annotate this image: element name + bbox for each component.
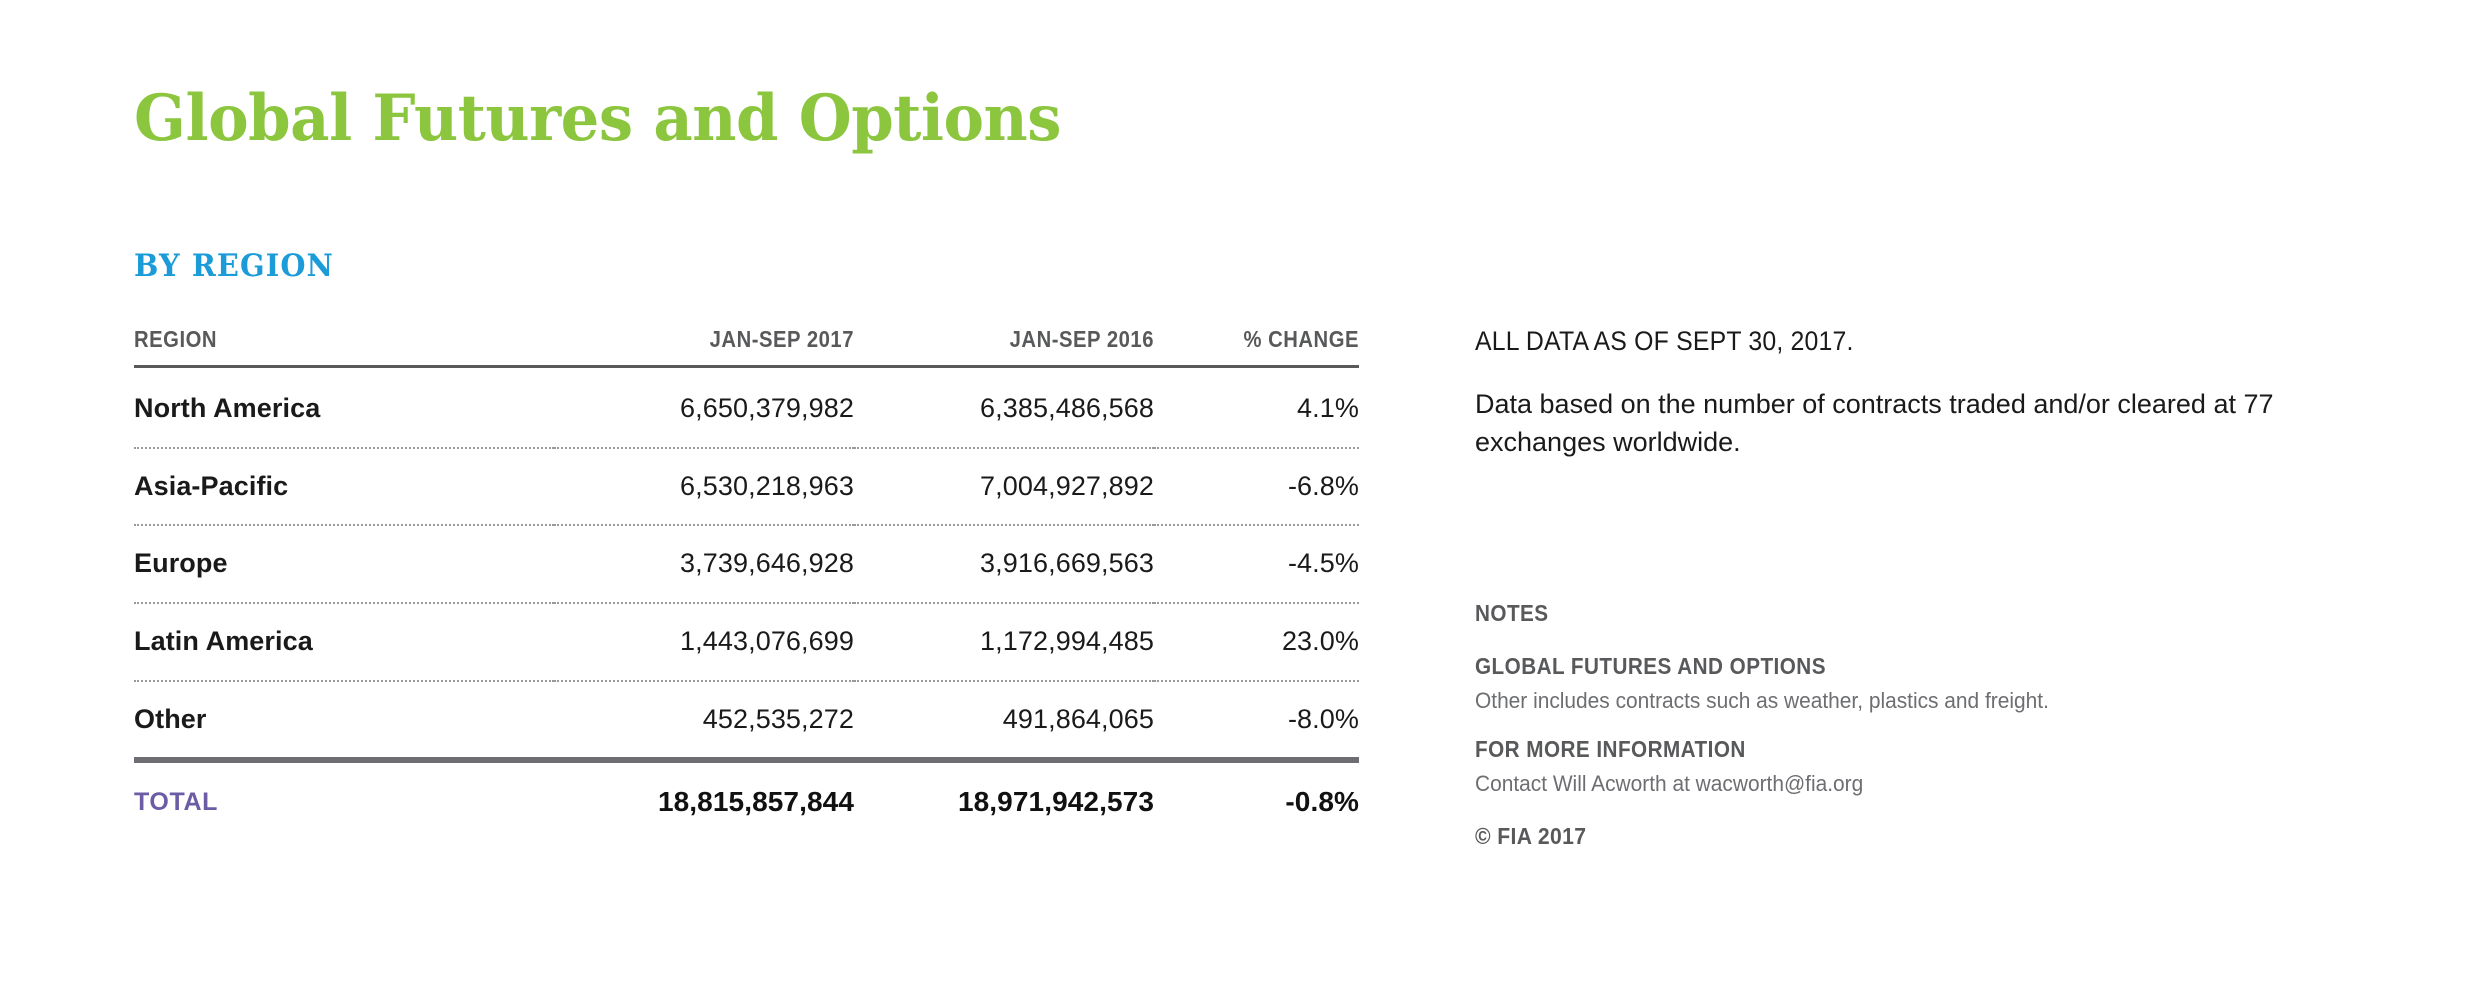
data-as-of-label: ALL DATA AS OF SEPT 30, 2017. (1475, 326, 2239, 357)
region-table: REGION JAN-SEP 2017 JAN-SEP 2016 % CHANG… (134, 326, 1359, 826)
cell-pct-change: -4.5% (1154, 525, 1359, 603)
column-header-2016: JAN-SEP 2016 (890, 326, 1154, 367)
report-page: Global Futures and Options BY REGION REG… (0, 0, 2475, 981)
column-header-2017: JAN-SEP 2017 (590, 326, 854, 367)
cell-2017: 6,650,379,982 (554, 367, 854, 448)
table-body: North America 6,650,379,982 6,385,486,56… (134, 367, 1359, 827)
note-body-global-futures-and-options: Other includes contracts such as weather… (1475, 688, 2264, 714)
cell-region: Europe (134, 525, 554, 603)
copyright-notice: © FIA 2017 (1475, 823, 2239, 850)
data-description: Data based on the number of contracts tr… (1475, 385, 2285, 462)
cell-2016: 6,385,486,568 (854, 367, 1154, 448)
cell-pct-change: -8.0% (1154, 681, 1359, 761)
page-title: Global Futures and Options (134, 85, 1061, 152)
table-row: Asia-Pacific 6,530,218,963 7,004,927,892… (134, 448, 1359, 526)
notes-heading: NOTES (1475, 600, 2222, 627)
section-subtitle: BY REGION (134, 248, 334, 284)
cell-2016: 7,004,927,892 (854, 448, 1154, 526)
table-row: North America 6,650,379,982 6,385,486,56… (134, 367, 1359, 448)
table-row: Europe 3,739,646,928 3,916,669,563 -4.5% (134, 525, 1359, 603)
table-total-row: TOTAL 18,815,857,844 18,971,942,573 -0.8… (134, 760, 1359, 826)
cell-region: Latin America (134, 603, 554, 681)
cell-pct-change: 4.1% (1154, 367, 1359, 448)
cell-2016: 3,916,669,563 (854, 525, 1154, 603)
cell-total-pct-change: -0.8% (1154, 760, 1359, 826)
column-header-change: % CHANGE (1179, 326, 1359, 367)
notes-section: NOTES GLOBAL FUTURES AND OPTIONS Other i… (1475, 600, 2305, 850)
cell-total-2016: 18,971,942,573 (854, 760, 1154, 826)
cell-total-2017: 18,815,857,844 (554, 760, 854, 826)
cell-2016: 491,864,065 (854, 681, 1154, 761)
cell-2016: 1,172,994,485 (854, 603, 1154, 681)
table-row: Latin America 1,443,076,699 1,172,994,48… (134, 603, 1359, 681)
cell-2017: 452,535,272 (554, 681, 854, 761)
cell-2017: 6,530,218,963 (554, 448, 854, 526)
table-header-row: REGION JAN-SEP 2017 JAN-SEP 2016 % CHANG… (134, 326, 1359, 367)
cell-pct-change: 23.0% (1154, 603, 1359, 681)
cell-region: Other (134, 681, 554, 761)
cell-pct-change: -6.8% (1154, 448, 1359, 526)
cell-region: Asia-Pacific (134, 448, 554, 526)
table-header: REGION JAN-SEP 2017 JAN-SEP 2016 % CHANG… (134, 326, 1359, 367)
cell-region: North America (134, 367, 554, 448)
column-header-region: REGION (134, 326, 504, 367)
cell-2017: 3,739,646,928 (554, 525, 854, 603)
note-body-for-more-information: Contact Will Acworth at wacworth@fia.org (1475, 771, 2264, 797)
side-info: ALL DATA AS OF SEPT 30, 2017. Data based… (1475, 326, 2305, 462)
note-heading-global-futures-and-options: GLOBAL FUTURES AND OPTIONS (1475, 653, 2222, 680)
table-row: Other 452,535,272 491,864,065 -8.0% (134, 681, 1359, 761)
note-heading-for-more-information: FOR MORE INFORMATION (1475, 736, 2222, 763)
cell-total-label: TOTAL (134, 760, 554, 826)
region-table-container: REGION JAN-SEP 2017 JAN-SEP 2016 % CHANG… (134, 326, 1359, 826)
cell-2017: 1,443,076,699 (554, 603, 854, 681)
